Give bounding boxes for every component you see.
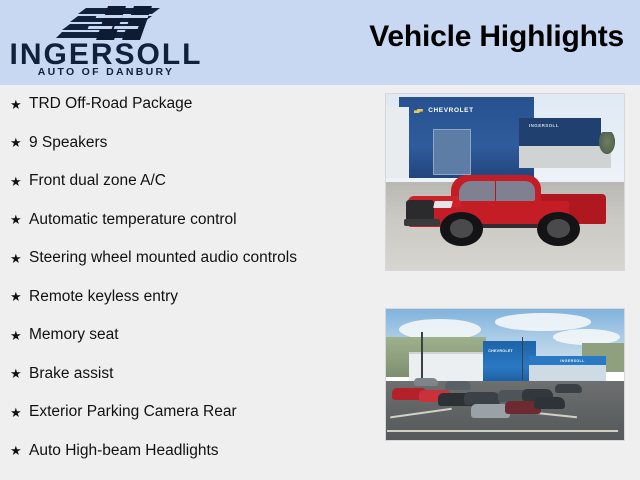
light-pole	[421, 332, 423, 385]
list-item: ★ Front dual zone A/C	[0, 162, 380, 201]
truck-grille	[406, 200, 434, 221]
highlight-label: Steering wheel mounted audio controls	[29, 249, 297, 267]
list-item: ★ Exterior Parking Camera Rear	[0, 393, 380, 432]
star-bullet-icon: ★	[10, 367, 29, 380]
dealership-photo-scene: CHEVROLET INGERSOLL	[385, 308, 625, 441]
list-item: ★ Memory seat	[0, 316, 380, 355]
star-bullet-icon: ★	[10, 406, 29, 419]
page-title: Vehicle Highlights	[369, 20, 624, 54]
star-bullet-icon: ★	[10, 290, 29, 303]
star-bullet-icon: ★	[10, 252, 29, 265]
highlight-label: 9 Speakers	[29, 134, 107, 152]
parked-car	[534, 397, 565, 409]
list-item: ★ Auto High-beam Headlights	[0, 432, 380, 471]
truck-front-bumper	[404, 219, 440, 226]
parked-car	[555, 384, 581, 393]
cloud	[495, 313, 591, 330]
parked-car	[414, 378, 438, 386]
building-sign-text-secondary: INGERSOLL	[560, 359, 585, 363]
highlight-label: Front dual zone A/C	[29, 172, 166, 190]
showroom-glass-door	[433, 129, 471, 175]
dealer-logo[interactable]: INGERSOLL AUTO OF DANBURY	[8, 4, 204, 80]
star-bullet-icon: ★	[10, 329, 29, 342]
highlight-label: Remote keyless entry	[29, 288, 178, 306]
light-pole	[522, 337, 524, 380]
dealership-photo[interactable]: CHEVROLET INGERSOLL	[385, 308, 625, 441]
building-sign-text-secondary: INGERSOLL	[529, 123, 559, 128]
star-bullet-icon: ★	[10, 213, 29, 226]
star-bullet-icon: ★	[10, 136, 29, 149]
page-header: INGERSOLL AUTO OF DANBURY Vehicle Highli…	[0, 0, 640, 85]
list-item: ★ Remote keyless entry	[0, 278, 380, 317]
highlight-label: Exterior Parking Camera Rear	[29, 403, 237, 421]
tree	[599, 132, 615, 154]
building-white-wing	[385, 107, 409, 178]
highlight-label: Automatic temperature control	[29, 211, 237, 229]
building-sign-text: CHEVROLET	[488, 349, 513, 353]
truck-b-pillar	[495, 181, 497, 202]
vehicle-photo[interactable]: CHEVROLET INGERSOLL	[385, 93, 625, 271]
truck-headlight	[434, 201, 454, 208]
truck-windows	[459, 181, 536, 202]
list-item: ★ Automatic temperature control	[0, 201, 380, 240]
highlight-label: Memory seat	[29, 326, 119, 344]
star-bullet-icon: ★	[10, 175, 29, 188]
building-sign-text: CHEVROLET	[428, 107, 474, 114]
logo-subtext: AUTO OF DANBURY	[8, 67, 204, 78]
star-bullet-icon: ★	[10, 98, 29, 111]
vehicle-highlights-list: ★ TRD Off-Road Package ★ 9 Speakers ★ Fr…	[0, 85, 380, 480]
list-item: ★ 9 Speakers	[0, 124, 380, 163]
list-item: ★ Brake assist	[0, 355, 380, 394]
highlight-label: Brake assist	[29, 365, 113, 383]
highlight-label: TRD Off-Road Package	[29, 95, 192, 113]
building-right-lower	[519, 146, 610, 167]
list-item: ★ Steering wheel mounted audio controls	[0, 239, 380, 278]
list-item: ★ TRD Off-Road Package	[0, 85, 380, 124]
truck-rear-wheel	[537, 212, 579, 246]
lot-stripe	[387, 430, 617, 432]
highlight-label: Auto High-beam Headlights	[29, 442, 219, 460]
ingersoll-wing-emblem-icon	[56, 6, 166, 40]
vehicle-photo-scene: CHEVROLET INGERSOLL	[385, 93, 625, 271]
star-bullet-icon: ★	[10, 444, 29, 457]
parked-car	[445, 381, 471, 390]
truck-front-wheel	[440, 212, 482, 246]
pickup-truck	[404, 173, 606, 248]
showroom-glass-front	[529, 365, 606, 382]
